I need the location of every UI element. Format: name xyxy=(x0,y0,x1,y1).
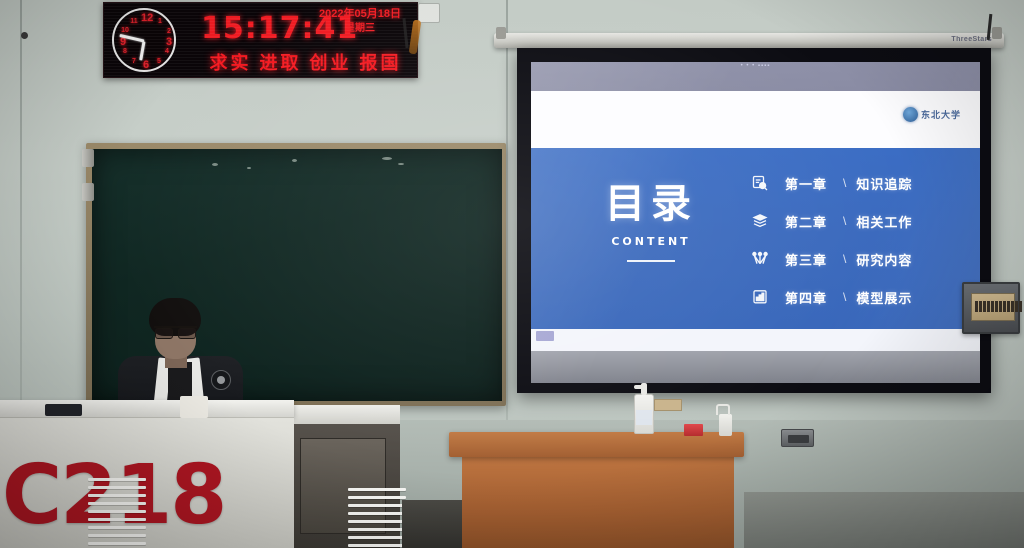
toc-item[interactable]: 第四章 \ 模型展示 xyxy=(749,278,971,316)
led-weekday-text: 星期三 xyxy=(304,22,416,36)
footer-indicator xyxy=(536,331,554,341)
led-date-text: 2022年05月18日 xyxy=(319,8,401,20)
wall-anchor-bolt xyxy=(21,32,28,39)
clock-numeral: 2 xyxy=(164,28,174,35)
app-bar-title: • • • ▪▪▪▪ xyxy=(741,63,771,69)
housing-bracket xyxy=(496,27,506,39)
clock-numeral: 10 xyxy=(120,27,130,34)
toc-chapter: 第一章 xyxy=(785,174,837,193)
toc-text: 相关工作 xyxy=(856,212,912,231)
sanitizer-label xyxy=(636,410,652,425)
sanitizer-nozzle xyxy=(634,385,646,389)
university-name-text: 东北大学 xyxy=(921,108,961,121)
toc-item[interactable]: 第三章 \ 研究内容 xyxy=(749,240,971,278)
electrical-panel[interactable] xyxy=(962,282,1020,334)
desk-dark-object xyxy=(45,404,82,416)
university-logo: 东北大学 xyxy=(903,107,961,122)
slide-title-block: 目录 CONTENT xyxy=(576,184,726,262)
toc-separator: \ xyxy=(843,252,846,266)
toc-text: 知识追踪 xyxy=(856,174,912,193)
clock-numeral: 12 xyxy=(141,13,151,24)
chalk-mark xyxy=(398,163,404,165)
toc-item[interactable]: 第一章 \ 知识追踪 xyxy=(749,164,971,202)
toc-chapter: 第四章 xyxy=(785,288,837,307)
desk-light-object xyxy=(180,396,208,418)
slide-header: 东北大学 xyxy=(531,91,980,148)
panel-face xyxy=(971,293,1015,321)
chalk-mark xyxy=(247,167,251,169)
books-stack-icon xyxy=(749,211,771,231)
network-nodes-icon xyxy=(749,249,771,269)
screen-blank-area xyxy=(531,351,980,383)
spray-bottle[interactable] xyxy=(719,414,732,436)
table-of-contents: 第一章 \ 知识追踪 第二章 \ xyxy=(749,164,971,316)
led-slogan-text: 求实 进取 创业 报国 xyxy=(104,49,417,75)
chalk-mark xyxy=(292,159,297,162)
toc-chapter: 第三章 xyxy=(785,250,837,269)
slide-title-cn: 目录 xyxy=(576,184,726,224)
chalk-mark xyxy=(212,163,218,166)
cabinet-vent xyxy=(348,488,406,547)
toc-separator: \ xyxy=(843,214,846,228)
slide-title-en: CONTENT xyxy=(576,235,726,248)
paper-tag xyxy=(654,399,682,411)
university-emblem-icon xyxy=(903,107,918,122)
clock-numeral: 1 xyxy=(155,18,165,25)
title-underline xyxy=(627,260,675,262)
floor-area xyxy=(744,492,1024,548)
jacket-badge xyxy=(211,370,231,390)
slide-footer xyxy=(531,329,980,351)
monitor-chart-icon xyxy=(749,287,771,307)
junction-box xyxy=(418,3,440,23)
projector-screen-housing[interactable]: ThreeStars xyxy=(494,33,1004,48)
toc-item[interactable]: 第二章 \ 相关工作 xyxy=(749,202,971,240)
toc-separator: \ xyxy=(843,176,846,190)
projected-image: • • • ▪▪▪▪ 东北大学 目录 CONTENT xyxy=(531,62,980,383)
presentation-app-bar: • • • ▪▪▪▪ xyxy=(531,62,980,91)
wall-socket[interactable] xyxy=(781,429,814,447)
toc-text: 研究内容 xyxy=(856,250,912,269)
toc-separator: \ xyxy=(843,290,846,304)
led-date-readout: 2022年05月18日 星期三 xyxy=(304,7,416,35)
housing-bracket xyxy=(992,27,1002,39)
cabinet-vent xyxy=(88,478,146,548)
desk-shadow-block xyxy=(402,500,464,548)
breaker-switches[interactable] xyxy=(975,301,1022,312)
slide-body: 目录 CONTENT 第 xyxy=(531,148,980,329)
clock-numeral: 11 xyxy=(129,18,139,25)
toc-chapter: 第二章 xyxy=(785,212,837,231)
toc-text: 模型展示 xyxy=(856,288,912,307)
blackboard-clip xyxy=(82,149,94,167)
lectern-body xyxy=(462,457,734,548)
clock-numeral: 3 xyxy=(164,37,174,48)
led-clock-board: 12 1 2 3 4 5 6 7 8 9 10 11 15:17:41 2022… xyxy=(103,2,418,78)
spray-handle xyxy=(716,404,730,415)
document-search-icon xyxy=(749,173,771,193)
classroom-scene: 12 1 2 3 4 5 6 7 8 9 10 11 15:17:41 2022… xyxy=(0,0,1024,548)
red-box[interactable] xyxy=(684,424,703,436)
chalk-mark xyxy=(382,157,392,160)
eyeglasses xyxy=(154,326,197,335)
projection-screen: • • • ▪▪▪▪ 东北大学 目录 CONTENT xyxy=(517,48,991,393)
blackboard-clip xyxy=(82,183,94,201)
